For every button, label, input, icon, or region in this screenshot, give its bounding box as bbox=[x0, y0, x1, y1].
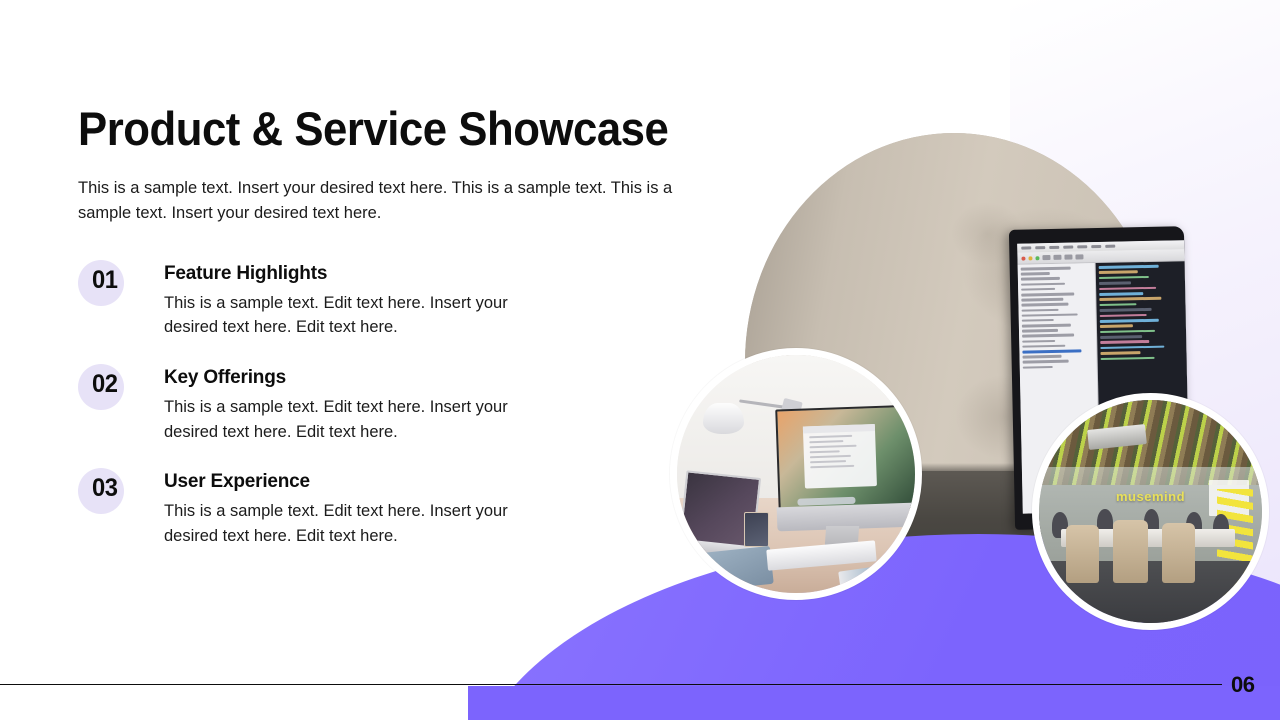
list-item[interactable]: 03 User Experience This is a sample text… bbox=[78, 466, 598, 548]
chair bbox=[1066, 525, 1099, 583]
page-title: Product & Service Showcase bbox=[78, 101, 668, 156]
chair bbox=[1113, 520, 1149, 582]
purple-footer-band bbox=[468, 686, 1280, 720]
footer-divider-line bbox=[0, 684, 1222, 685]
list-item-body: This is a sample text. Edit text here. I… bbox=[164, 395, 552, 444]
list-item[interactable]: 01 Feature Highlights This is a sample t… bbox=[78, 258, 598, 340]
numbered-feature-list: 01 Feature Highlights This is a sample t… bbox=[78, 258, 598, 570]
list-item-body: This is a sample text. Edit text here. I… bbox=[164, 291, 552, 340]
list-item[interactable]: 02 Key Offerings This is a sample text. … bbox=[78, 362, 598, 444]
slide-canvas: musemind Product & Service Showcase This… bbox=[0, 0, 1280, 720]
list-item-heading: Key Offerings bbox=[164, 362, 598, 390]
desk-lamp-icon bbox=[703, 403, 743, 434]
list-item-number: 02 bbox=[92, 370, 117, 399]
list-item-heading: User Experience bbox=[164, 466, 598, 494]
intro-paragraph: This is a sample text. Insert your desir… bbox=[78, 176, 689, 225]
imac-finder-window bbox=[803, 424, 877, 488]
page-number: 06 bbox=[1231, 672, 1254, 698]
desk-workspace-photo-circle bbox=[670, 348, 922, 600]
meeting-brand-label: musemind bbox=[1116, 489, 1185, 504]
list-item-number: 03 bbox=[92, 474, 117, 503]
list-item-heading: Feature Highlights bbox=[164, 258, 598, 286]
chair bbox=[1162, 523, 1195, 583]
small-tablet bbox=[744, 512, 770, 547]
imac-screen bbox=[775, 405, 921, 514]
list-item-number: 01 bbox=[92, 266, 117, 295]
meeting-room-photo-circle: musemind bbox=[1032, 393, 1269, 630]
meeting-scene: musemind bbox=[1039, 400, 1262, 623]
desk-scene bbox=[677, 355, 915, 593]
list-item-body: This is a sample text. Edit text here. I… bbox=[164, 499, 552, 548]
